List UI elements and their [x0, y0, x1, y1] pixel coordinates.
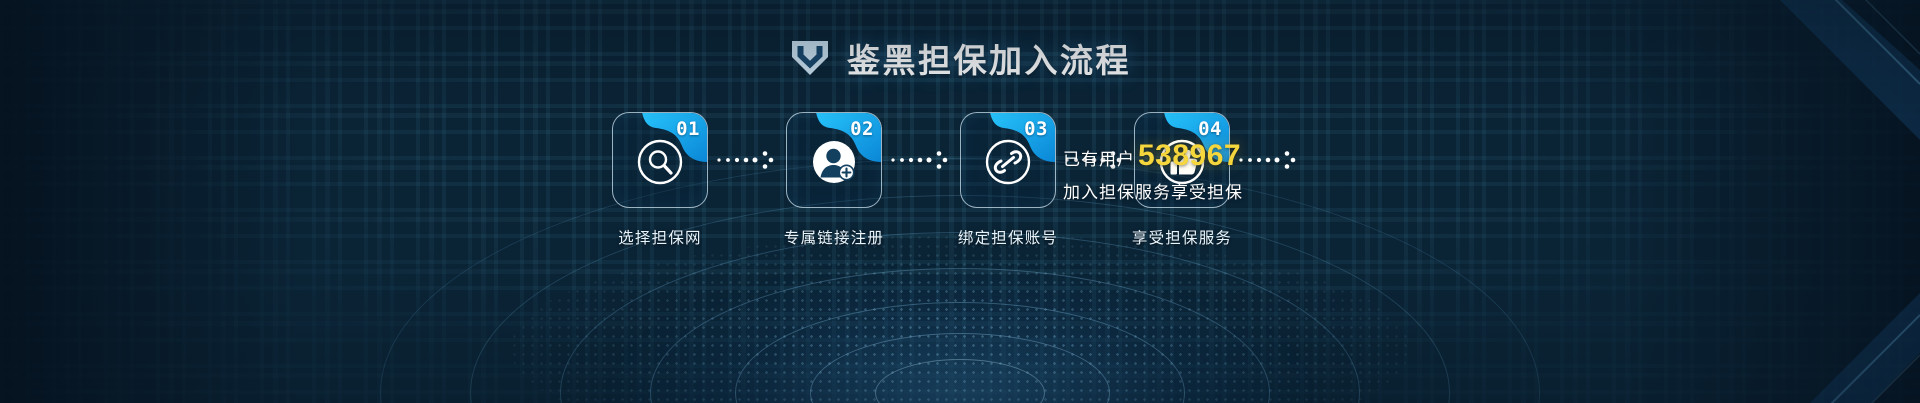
- step-item-3[interactable]: 03 绑定担保账号: [960, 112, 1056, 248]
- user-stats-block: 已有用户 538967 加入担保服务享受担保: [1063, 141, 1323, 203]
- user-count-row: 已有用户 538967: [1063, 141, 1323, 171]
- step-label-3: 绑定担保账号: [958, 226, 1058, 248]
- step-card-2[interactable]: 02: [786, 112, 882, 208]
- user-add-icon: [808, 136, 860, 188]
- chain-link-icon: [982, 136, 1034, 188]
- page-title: 鉴黑担保加入流程: [847, 34, 1131, 82]
- step-item-2[interactable]: 02 专属链接注册: [786, 112, 882, 248]
- promo-banner: 鉴黑担保加入流程 01: [0, 0, 1920, 403]
- step-item-1[interactable]: 01 选择担保网: [612, 112, 708, 248]
- banner-title-row: 鉴黑担保加入流程: [0, 34, 1920, 82]
- user-count-value: 538967: [1138, 141, 1241, 171]
- user-count-prefix: 已有用户: [1063, 145, 1135, 170]
- steps-row: 01 选择担保网: [0, 112, 1920, 248]
- dotted-arrow-icon: [708, 112, 786, 208]
- step-label-2: 专属链接注册: [784, 226, 884, 248]
- step-label-4: 享受担保服务: [1132, 226, 1232, 248]
- step-label-1: 选择担保网: [618, 226, 702, 248]
- step-card-1[interactable]: 01: [612, 112, 708, 208]
- step-card-3[interactable]: 03: [960, 112, 1056, 208]
- shield-chevron-logo-icon: [789, 39, 831, 77]
- user-stats-subtitle: 加入担保服务享受担保: [1063, 178, 1323, 203]
- magnifier-icon: [634, 136, 686, 188]
- dotted-arrow-icon: [882, 112, 960, 208]
